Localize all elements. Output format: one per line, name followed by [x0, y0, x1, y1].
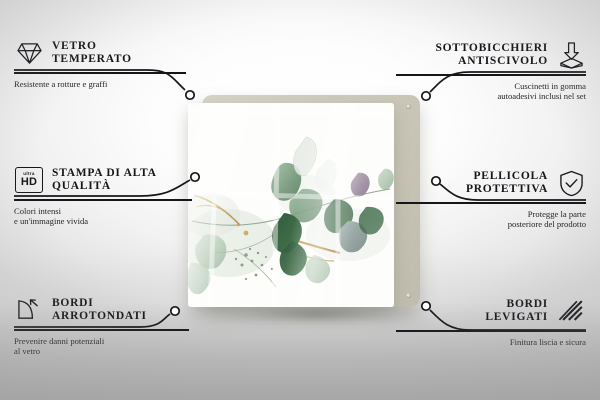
- rounded-corner-icon: [14, 295, 44, 325]
- feature-description: Colori intensie un'immagine vivida: [14, 206, 192, 227]
- ultra-hd-icon: ultra HD: [14, 165, 44, 195]
- feature-description: Resistente a rotture e graffi: [14, 79, 186, 90]
- feature-header: BORDIARROTONDATI: [14, 295, 189, 325]
- botanical-artwork: [188, 103, 394, 307]
- divider: [396, 202, 586, 204]
- feature-title: STAMPA DI ALTAQUALITÀ: [52, 167, 157, 194]
- feature-pellicola-protettiva[interactable]: PELLICOLAPROTETTIVA Protegge la partepos…: [396, 168, 586, 230]
- feature-sottobicchieri-antiscivolo[interactable]: SOTTOBICCHIERIANTISCIVOLO Cuscinetti in …: [396, 40, 586, 102]
- feature-title: BORDILEVIGATI: [485, 298, 548, 325]
- feature-header: VETROTEMPERATO: [14, 38, 186, 68]
- polished-edge-icon: [556, 296, 586, 326]
- feature-header: ultra HD STAMPA DI ALTAQUALITÀ: [14, 165, 192, 195]
- feature-description: Finitura liscia e sicura: [396, 337, 586, 348]
- diamond-icon: [14, 38, 44, 68]
- feature-description: Cuscinetti in gommaautoadesivi inclusi n…: [396, 81, 586, 102]
- divider: [396, 74, 586, 76]
- feature-title: SOTTOBICCHIERIANTISCIVOLO: [435, 42, 548, 69]
- feature-stampa-di-alta-qualita[interactable]: ultra HD STAMPA DI ALTAQUALITÀ Colori in…: [14, 165, 192, 227]
- feature-title: PELLICOLAPROTETTIVA: [466, 170, 548, 197]
- divider: [14, 72, 186, 74]
- feature-title: VETROTEMPERATO: [52, 40, 132, 67]
- feature-bordi-arrotondati[interactable]: BORDIARROTONDATI Prevenire danni potenzi…: [14, 295, 189, 357]
- screw-hole-top-right: [406, 104, 411, 109]
- feature-header: PELLICOLAPROTETTIVA: [396, 168, 586, 198]
- feature-title: BORDIARROTONDATI: [52, 297, 147, 324]
- feature-header: SOTTOBICCHIERIANTISCIVOLO: [396, 40, 586, 70]
- feature-description: Protegge la parteposteriore del prodotto: [396, 209, 586, 230]
- divider: [396, 330, 586, 332]
- infographic-canvas: VETROTEMPERATO Resistente a rotture e gr…: [0, 0, 600, 400]
- feature-bordi-levigati[interactable]: BORDILEVIGATI Finitura liscia e sicura: [396, 296, 586, 347]
- ultra-hd-large-text: HD: [21, 177, 37, 188]
- feature-description: Prevenire danni potenzialial vetro: [14, 336, 189, 357]
- divider: [14, 329, 189, 331]
- glass-panel: [188, 103, 394, 307]
- shield-check-icon: [556, 168, 586, 198]
- product-image[interactable]: [188, 95, 420, 317]
- feature-vetro-temperato[interactable]: VETROTEMPERATO Resistente a rotture e gr…: [14, 38, 186, 89]
- divider: [14, 199, 192, 201]
- feature-header: BORDILEVIGATI: [396, 296, 586, 326]
- anti-slip-pad-icon: [556, 40, 586, 70]
